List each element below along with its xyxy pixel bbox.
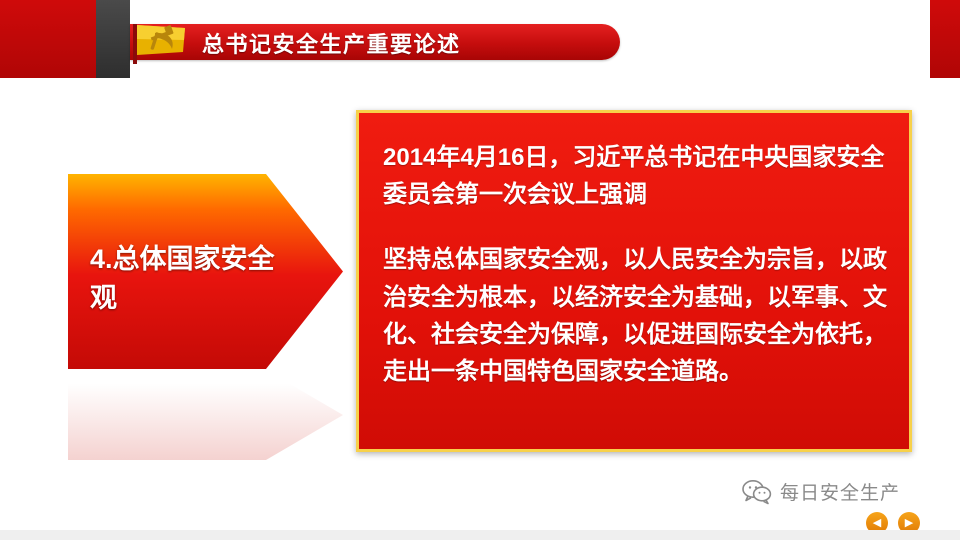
- content-paragraph-1: 2014年4月16日，习近平总书记在中央国家安全委员会第一次会议上强调: [383, 139, 889, 213]
- wechat-icon: [742, 479, 772, 505]
- header-right-red-block: [930, 0, 960, 78]
- party-emblem-icon: [131, 22, 189, 66]
- content-box-inner: 2014年4月16日，习近平总书记在中央国家安全委员会第一次会议上强调 坚持总体…: [383, 139, 889, 390]
- watermark: 每日安全生产: [742, 478, 900, 505]
- arrow-label-reflection: [68, 370, 343, 460]
- arrow-label-text: 4.总体国家安全观: [90, 240, 280, 318]
- arrow-label: 4.总体国家安全观: [68, 174, 343, 369]
- slide-canvas: 总书记安全生产重要论述 4.总体国家安全观 2014年4月16日，习近平总书记在…: [0, 0, 960, 540]
- watermark-text: 每日安全生产: [780, 478, 900, 505]
- bottom-strip: [0, 530, 960, 540]
- page-title: 总书记安全生产重要论述: [202, 27, 461, 59]
- slide-header: 总书记安全生产重要论述: [0, 0, 960, 78]
- header-left-red-block: [0, 0, 96, 78]
- header-dark-tab: [96, 0, 130, 78]
- content-box: 2014年4月16日，习近平总书记在中央国家安全委员会第一次会议上强调 坚持总体…: [356, 110, 912, 452]
- content-paragraph-2: 坚持总体国家安全观，以人民安全为宗旨，以政治安全为根本，以经济安全为基础，以军事…: [383, 241, 889, 390]
